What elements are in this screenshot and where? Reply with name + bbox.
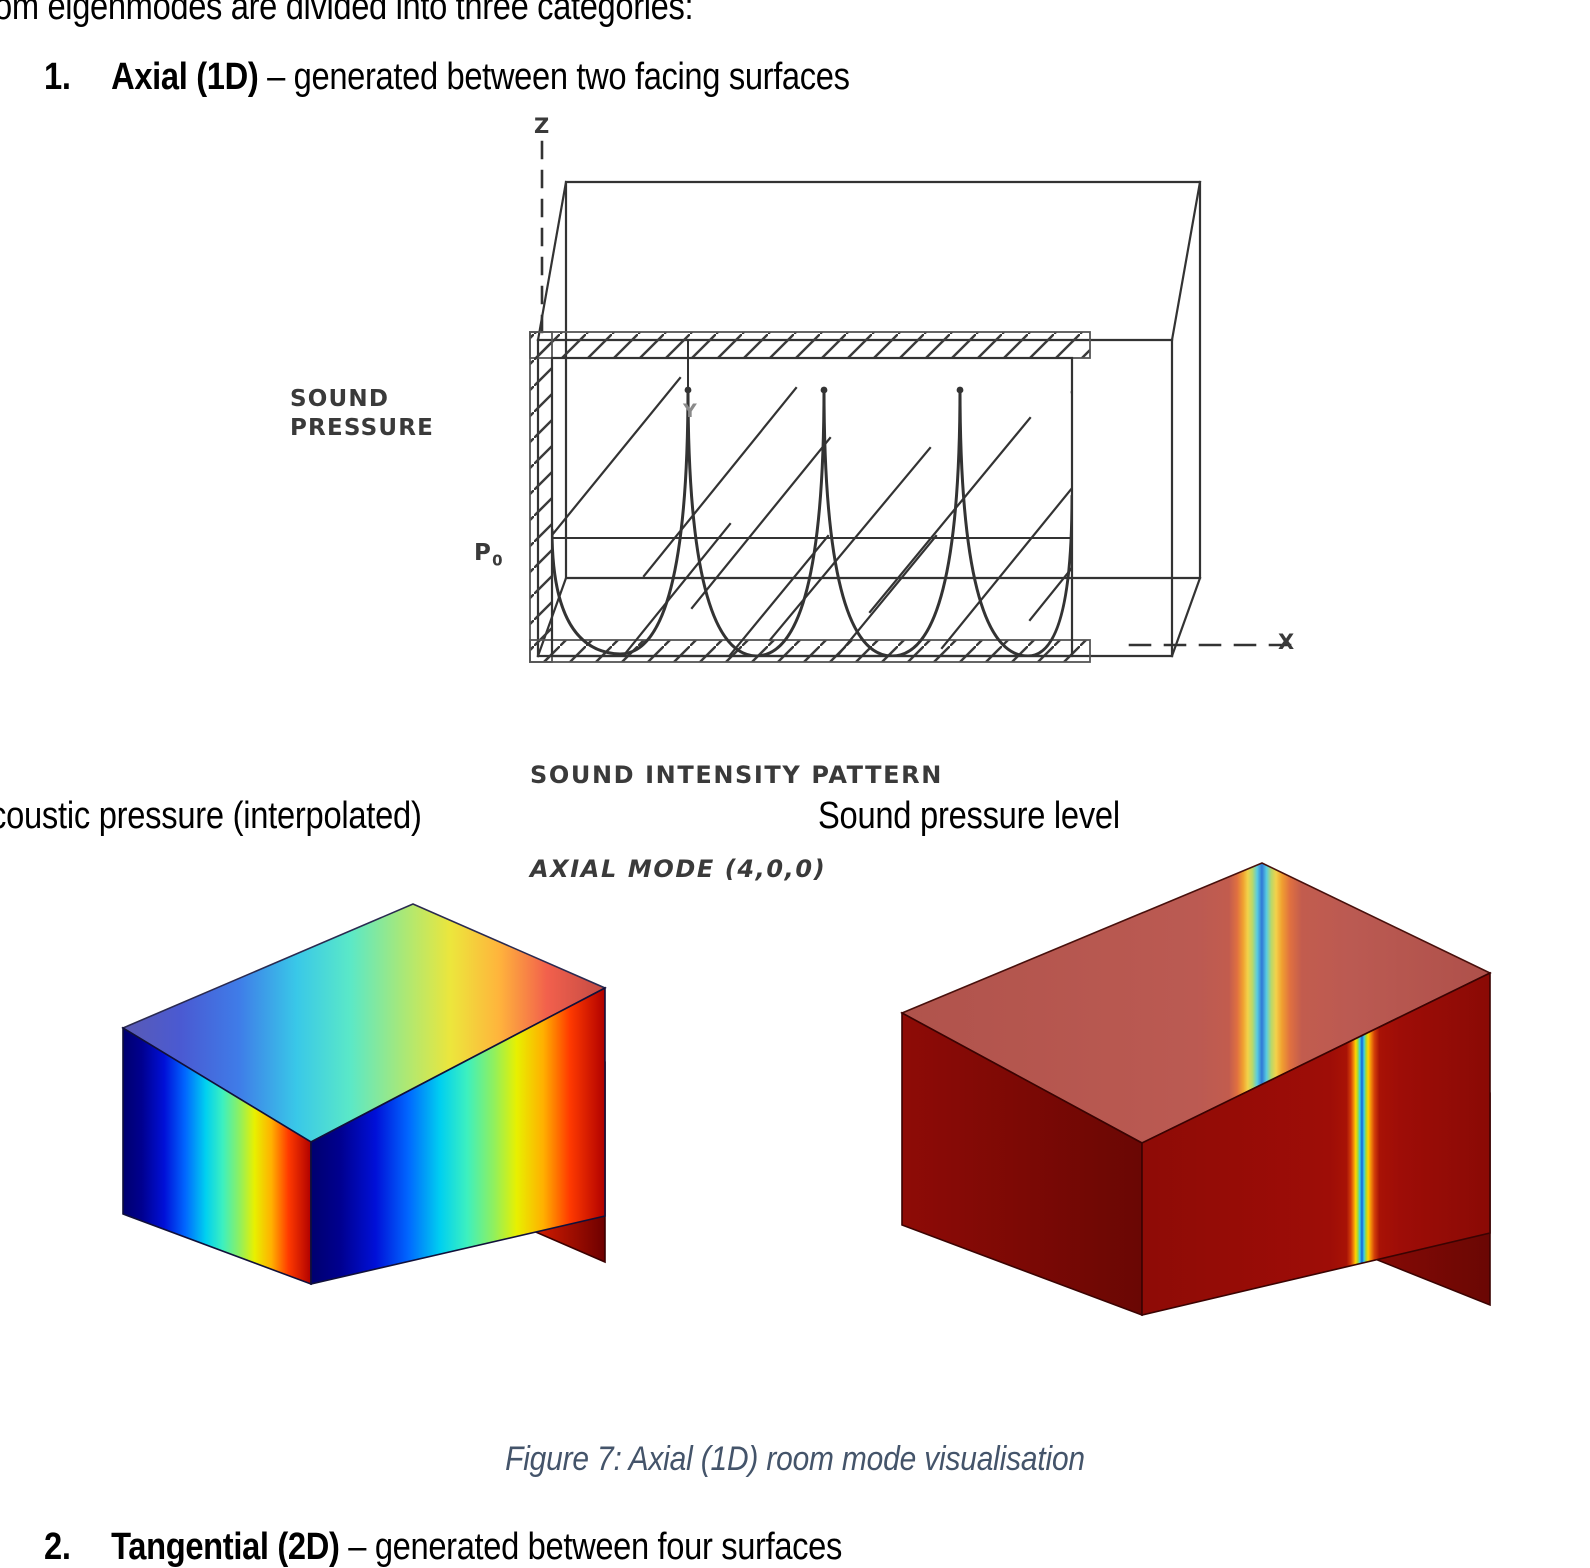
list-item: 2.Tangential (2D) – generated between fo… xyxy=(44,1528,842,1566)
sound-pressure-level-svg xyxy=(890,825,1540,1400)
z-axis-label: Z xyxy=(534,114,550,138)
sound-pressure-level-3d-box xyxy=(890,825,1540,1400)
list-item-term: Axial (1D) xyxy=(111,56,258,98)
sound-pressure-axis-label: SOUND PRESSURE xyxy=(290,385,434,444)
list-item-description: – generated between two facing surfaces xyxy=(258,56,849,98)
list-item-number: 2. xyxy=(44,1528,111,1566)
list-item-term: Tangential (2D) xyxy=(111,1526,339,1568)
intro-paragraph: om eigenmodes are divided into three cat… xyxy=(0,0,693,26)
p0-letter: P xyxy=(474,540,492,566)
p0-subscript: 0 xyxy=(492,552,504,570)
room-interior-rect xyxy=(552,358,1072,656)
figure-caption: Figure 7: Axial (1D) room mode visualisa… xyxy=(95,1440,1494,1479)
acoustic-pressure-3d-box xyxy=(95,880,655,1300)
axial-mode-line-diagram: Z X Y SOUND PRESSURE P0 SOUND INTENSITY … xyxy=(430,100,1330,780)
box-rear-face xyxy=(566,182,1200,578)
pressure-lobes xyxy=(552,388,1072,656)
list-item-number: 1. xyxy=(44,58,111,96)
list-item: 1.Axial (1D) – generated between two fac… xyxy=(44,58,850,96)
acoustic-pressure-heading: coustic pressure (interpolated) xyxy=(0,795,422,838)
wall-hatching xyxy=(530,332,1090,662)
list-item-description: – generated between four surfaces xyxy=(340,1526,842,1568)
propagation-rays xyxy=(548,378,1130,660)
axial-mode-svg xyxy=(430,100,1330,780)
box-edge-rear-right xyxy=(1172,182,1200,340)
acoustic-pressure-svg xyxy=(95,880,655,1300)
line-diagram-caption-line-1: SOUND INTENSITY PATTERN xyxy=(530,760,943,791)
lobe-peak-markers xyxy=(685,387,1078,396)
x-axis-label: X xyxy=(1278,630,1295,654)
p0-label: P0 xyxy=(474,540,504,570)
y-axis-label: Y xyxy=(683,400,698,422)
